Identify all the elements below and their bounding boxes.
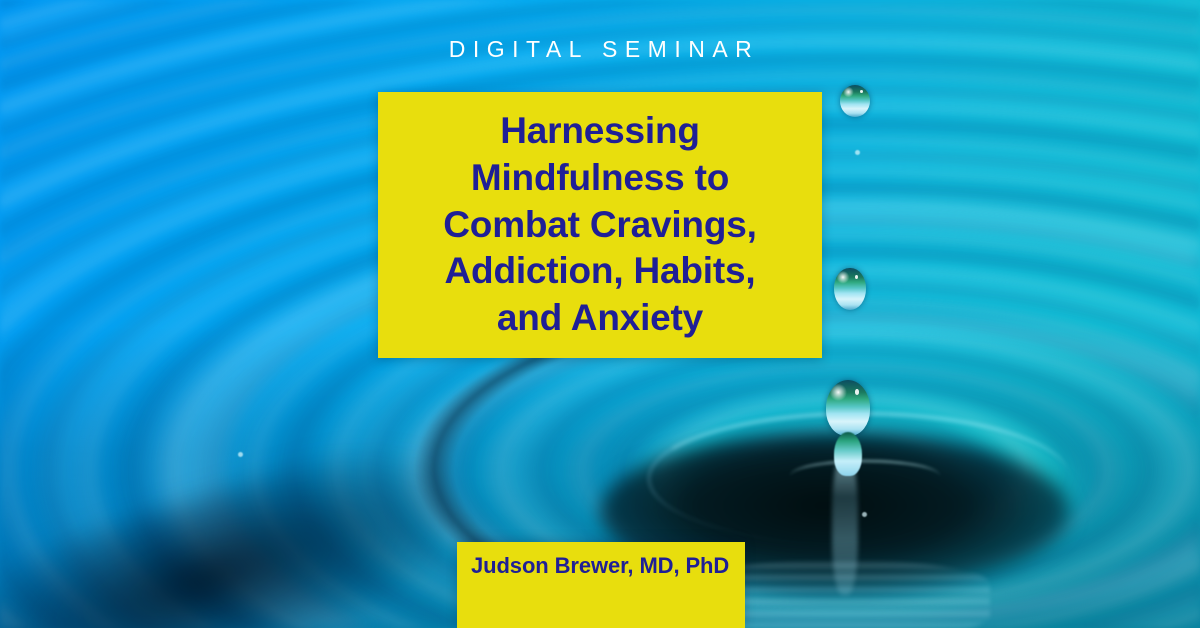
water-droplet-rising-icon [826, 380, 870, 436]
bubble-speck-2 [238, 452, 243, 457]
bubble-speck-1 [855, 150, 860, 155]
seminar-poster: DIGITAL SEMINAR Harnessing Mindfulness t… [0, 0, 1200, 628]
page-title: Harnessing Mindfulness to Combat Craving… [429, 108, 770, 341]
author-card: Judson Brewer, MD, PhD [457, 542, 745, 628]
bubble-speck-3 [862, 512, 867, 517]
water-droplet-middle-icon [834, 268, 866, 310]
eyebrow-label: DIGITAL SEMINAR [0, 36, 1200, 63]
title-card: Harnessing Mindfulness to Combat Craving… [378, 92, 822, 358]
author-name: Judson Brewer, MD, PhD [471, 553, 729, 579]
crater-lip-inner [790, 460, 940, 492]
water-droplet-neck [834, 432, 862, 476]
water-droplet-top-icon [840, 85, 870, 117]
